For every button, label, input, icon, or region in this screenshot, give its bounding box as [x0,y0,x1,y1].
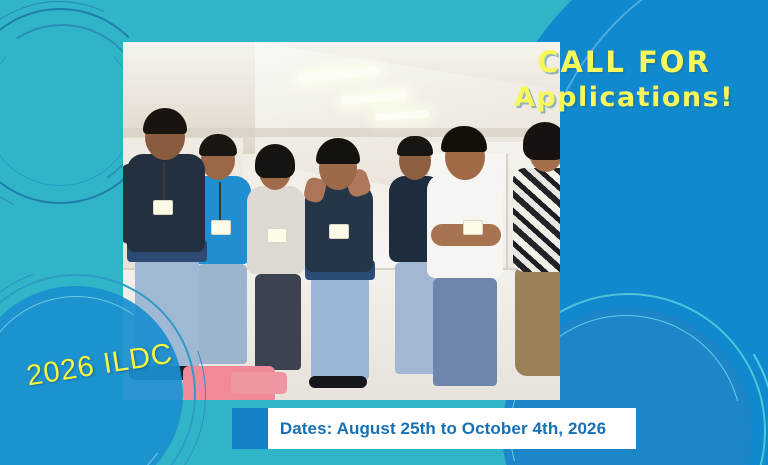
headline-line-1: CALL FOR [498,44,750,81]
person-6-legs [433,278,497,386]
poster-canvas: CALL FOR Applications! 2026 ILDC Dates: … [0,0,768,465]
person-7-blouse [513,168,560,272]
headline-line-2: Applications! [498,81,750,116]
photo-pink-cushion-2 [231,372,287,394]
date-banner-text: Dates: August 25th to October 4th, 2026 [268,419,636,439]
person-2-lanyard [219,182,221,220]
person-4-name-badge [329,224,349,239]
person-2-name-badge [211,220,231,235]
photo-ceiling-beam [123,128,560,137]
person-7-hair [523,122,560,160]
person-1-lanyard [163,162,165,202]
person-3-hair [255,144,295,178]
person-2-legs [197,264,247,364]
headline: CALL FOR Applications! [498,44,750,116]
person-3-name-badge [267,228,287,243]
person-1-arm [123,164,139,244]
person-4-legs [311,276,369,380]
date-banner: Dates: August 25th to October 4th, 2026 [232,408,636,449]
person-4-shoes [309,376,367,388]
person-6-name-badge [463,220,483,235]
person-3-legs [255,274,301,370]
date-banner-accent [232,408,268,449]
person-1-name-badge [153,200,173,215]
person-7-longyi [515,268,560,376]
